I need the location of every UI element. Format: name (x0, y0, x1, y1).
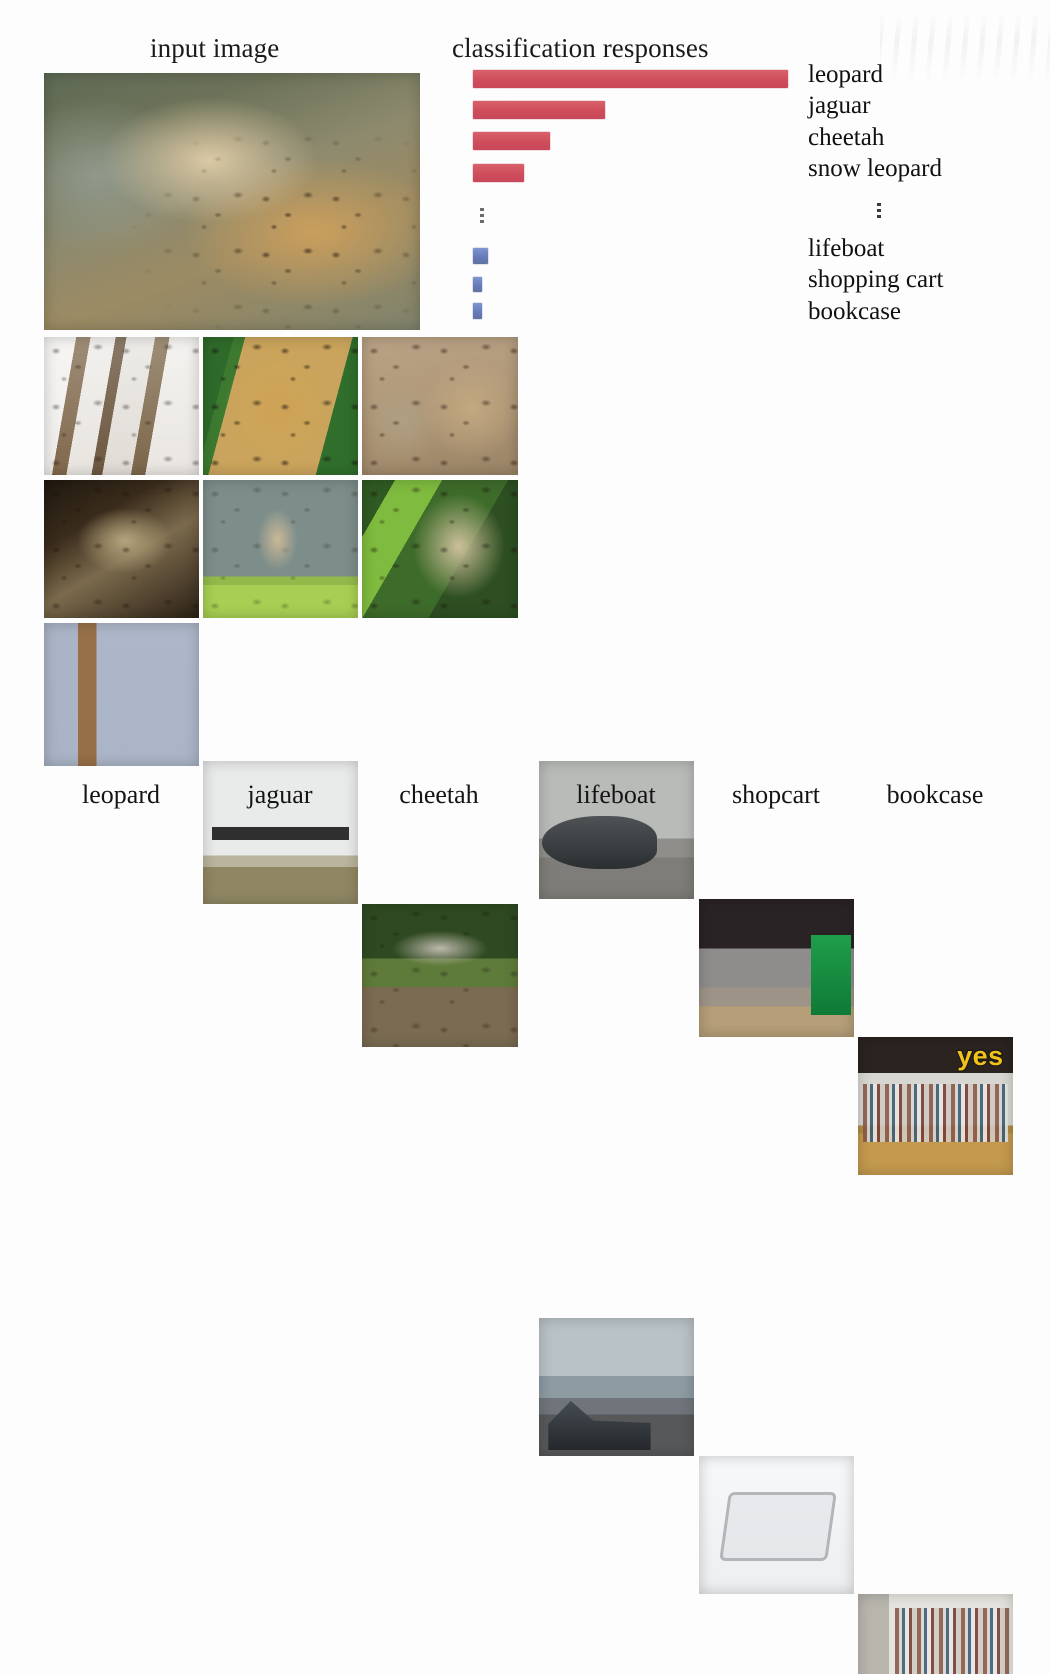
bar-shopping-cart (473, 277, 482, 292)
bar-snow-leopard (473, 164, 524, 182)
thumbnail-leopard-3 (44, 623, 199, 766)
response-label-lifeboat: lifeboat (808, 236, 884, 261)
response-label-leopard: leopard (808, 62, 883, 87)
response-label-cheetah: cheetah (808, 125, 884, 150)
spot-texture (203, 480, 358, 618)
spot-texture (203, 337, 358, 475)
bookshelf-texture (863, 1084, 1009, 1142)
figure-canvas: input image classification responses leo… (0, 0, 1050, 837)
thumbnail-jaguar-2 (203, 480, 358, 618)
thumbnail-jaguar-1 (203, 337, 358, 475)
classification-bar-chart (473, 60, 813, 335)
bar-cheetah (473, 132, 550, 150)
photo-vignette (699, 899, 854, 1037)
thumbnail-leopard-1 (44, 337, 199, 475)
spot-texture (44, 337, 199, 475)
bar-leopard (473, 70, 788, 88)
response-label-bookcase: bookcase (808, 299, 901, 324)
response-label-snow-leopard: snow leopard (808, 156, 942, 181)
watermark-artifact (880, 12, 1050, 84)
spot-texture (44, 480, 199, 618)
bar-bookcase (473, 303, 482, 319)
thumbnail-bookcase-1: yes (858, 1037, 1013, 1175)
bottom-label-cheetah: cheetah (339, 780, 539, 810)
photo-vignette (44, 623, 199, 766)
bookshelf-texture (895, 1608, 1010, 1674)
response-label-jaguar: jaguar (808, 93, 870, 118)
bar-ellipsis (475, 205, 489, 226)
response-label-shopping-cart: shopping cart (808, 267, 943, 292)
thumbnail-cheetah-1 (362, 337, 518, 475)
spot-texture (362, 337, 518, 475)
photo-vignette (699, 1456, 854, 1594)
input-image-heading: input image (150, 33, 279, 64)
leopard-spots-texture (44, 73, 420, 330)
spot-texture (362, 904, 518, 1047)
spot-texture (362, 480, 518, 618)
thumbnail-cheetah-2 (362, 480, 518, 618)
thumbnail-shopcart-1 (699, 899, 854, 1037)
thumbnail-bookcase-2 (858, 1594, 1013, 1674)
photo-vignette (539, 1318, 694, 1456)
yes-overlay-text: yes (957, 1043, 1004, 1070)
bottom-label-bookcase: bookcase (835, 780, 1035, 810)
response-label-ellipsis (873, 200, 885, 221)
bar-jaguar (473, 101, 605, 119)
bar-lifeboat (473, 248, 488, 264)
thumbnail-shopcart-2 (699, 1456, 854, 1594)
thumbnail-cheetah-3 (362, 904, 518, 1047)
thumbnail-leopard-2 (44, 480, 199, 618)
thumbnail-lifeboat-2 (539, 1318, 694, 1456)
input-image-photo (44, 73, 420, 330)
